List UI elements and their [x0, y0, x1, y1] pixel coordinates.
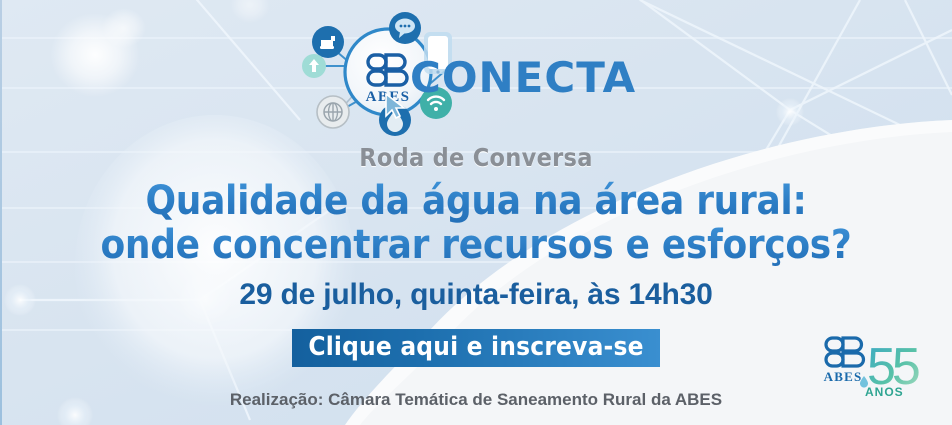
register-button[interactable]: Clique aqui e inscreva-se [292, 329, 659, 367]
organizer-credit: Realização: Câmara Temática de Saneament… [0, 390, 952, 410]
event-banner: ABES [0, 0, 952, 425]
headline-line-2: onde concentrar recursos e esforços? [0, 222, 952, 268]
conecta-wordmark: CONECTA [410, 53, 636, 102]
faucet-icon [312, 26, 344, 58]
headline-line-1: Qualidade da água na área rural: [0, 178, 952, 224]
chat-bubble-icon [389, 12, 421, 44]
abes-anniversary-mark: ABES [824, 369, 863, 384]
event-kicker: Roda de Conversa [0, 143, 952, 172]
event-date: 29 de julho, quinta-feira, às 14h30 [0, 278, 952, 312]
gear-globe-icon [317, 96, 349, 128]
anniversary-suffix: ANOS [865, 385, 904, 399]
cta-container: Clique aqui e inscreva-se [0, 329, 952, 367]
upload-arrow-icon [302, 54, 326, 78]
